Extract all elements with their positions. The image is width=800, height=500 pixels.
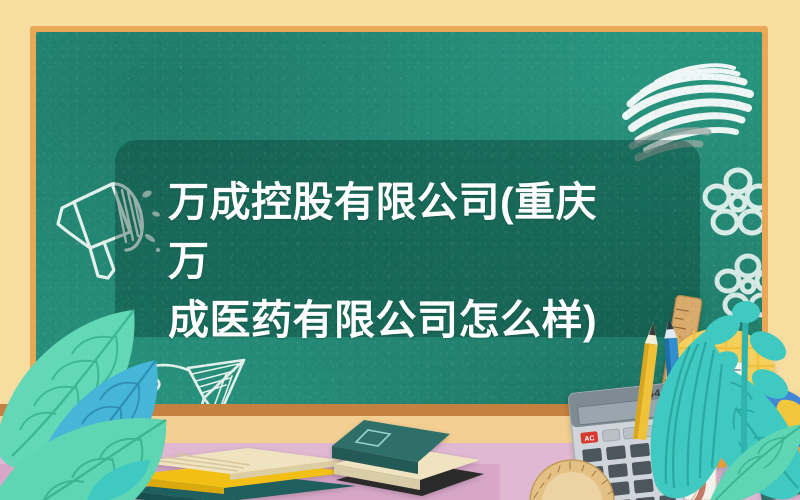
- page-title-line-2: 成医药有限公司怎么样): [168, 291, 638, 350]
- leaf-icon: [84, 458, 154, 500]
- title-backdrop-panel: [115, 140, 700, 337]
- megaphone-icon: [46, 158, 166, 288]
- books-stack-center-icon: [330, 404, 490, 500]
- protractor-icon: [524, 448, 620, 500]
- leaf-icon: [704, 418, 800, 500]
- flower-icon: [700, 164, 762, 244]
- chalk-eraser-smudge-icon: [612, 48, 762, 178]
- page-title-line-1: 万成控股有限公司(重庆万: [168, 173, 638, 291]
- calculator-ac-key: AC: [584, 435, 595, 443]
- page-title: 万成控股有限公司(重庆万 成医药有限公司怎么样): [168, 173, 638, 350]
- poster-canvas: 万成控股有限公司(重庆万 成医药有限公司怎么样): [0, 0, 800, 500]
